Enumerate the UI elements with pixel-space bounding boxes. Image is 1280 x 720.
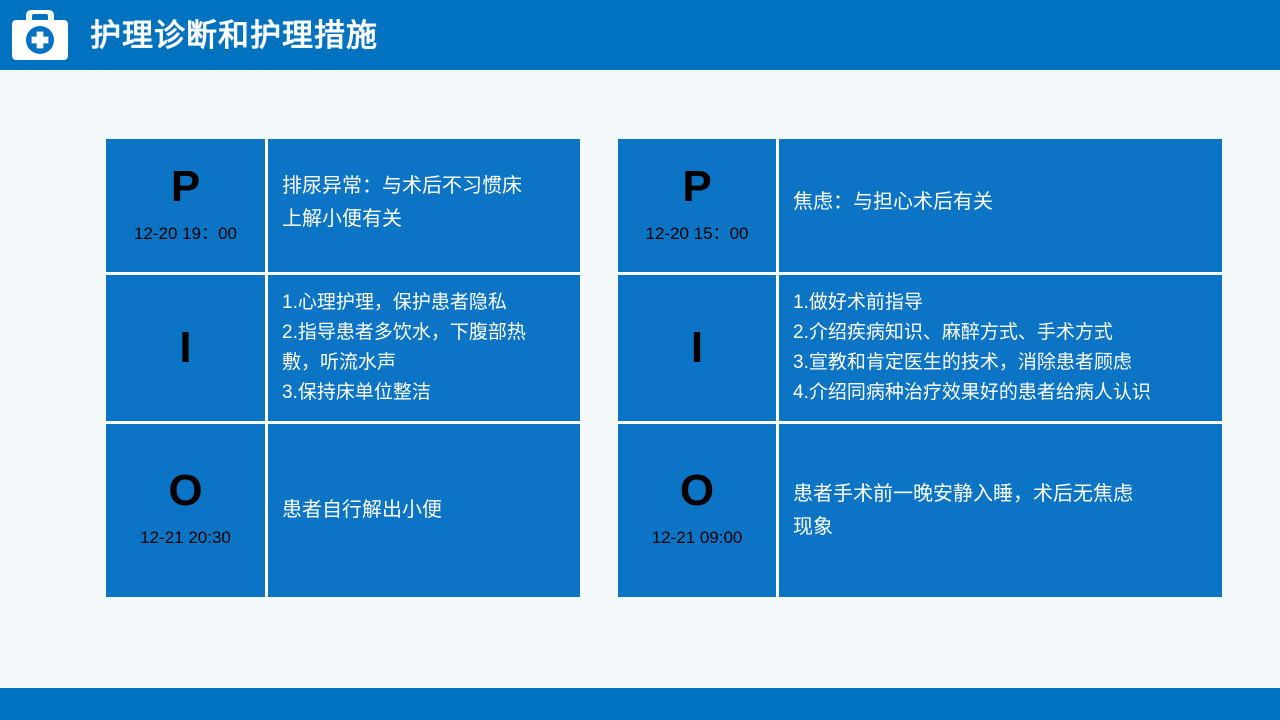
content-line: 现象 bbox=[793, 511, 1208, 543]
row-timestamp: 12-20 19：00 bbox=[134, 225, 237, 242]
content-line: 1.做好术前指导 bbox=[793, 288, 1208, 318]
content-line: 2.指导患者多饮水，下腹部热 bbox=[282, 318, 566, 348]
row-letter: O bbox=[168, 469, 202, 513]
table-row-label-p: P 12-20 19：00 bbox=[106, 139, 265, 272]
content-line: 4.介绍同病种治疗效果好的患者给病人认识 bbox=[793, 378, 1208, 408]
table-row-label-i: I bbox=[618, 275, 776, 421]
row-letter: O bbox=[680, 469, 714, 513]
content-line: 上解小便有关 bbox=[282, 203, 566, 235]
row-timestamp: 12-20 15：00 bbox=[645, 225, 748, 242]
content-line: 患者手术前一晚安静入睡，术后无焦虑 bbox=[793, 478, 1208, 510]
table-row-content-i: 1.心理护理，保护患者隐私 2.指导患者多饮水，下腹部热 敷，听流水声 3.保持… bbox=[268, 275, 580, 421]
nursing-record-table-left: P 12-20 19：00 排尿异常：与术后不习惯床 上解小便有关 I 1.心理… bbox=[106, 139, 580, 591]
table-row-label-p: P 12-20 15：00 bbox=[618, 139, 776, 272]
table-row-label-o: O 12-21 09:00 bbox=[618, 424, 776, 597]
content-line: 3.宣教和肯定医生的技术，消除患者顾虑 bbox=[793, 348, 1208, 378]
table-row-label-i: I bbox=[106, 275, 265, 421]
page-title: 护理诊断和护理措施 bbox=[90, 20, 378, 51]
row-letter: I bbox=[691, 326, 703, 370]
table-row-content-p: 焦虑：与担心术后有关 bbox=[779, 139, 1222, 272]
content-line: 3.保持床单位整洁 bbox=[282, 378, 566, 408]
content-line: 1.心理护理，保护患者隐私 bbox=[282, 288, 566, 318]
slide-header: 护理诊断和护理措施 bbox=[0, 0, 1280, 70]
row-timestamp: 12-21 09:00 bbox=[652, 529, 743, 546]
content-line: 焦虑：与担心术后有关 bbox=[793, 186, 1208, 218]
nursing-record-table-right: P 12-20 15：00 焦虑：与担心术后有关 I 1.做好术前指导 2.介绍… bbox=[618, 139, 1222, 591]
content-line: 2.介绍疾病知识、麻醉方式、手术方式 bbox=[793, 318, 1208, 348]
table-row-content-o: 患者手术前一晚安静入睡，术后无焦虑 现象 bbox=[779, 424, 1222, 597]
row-letter: I bbox=[179, 326, 191, 370]
table-row-content-p: 排尿异常：与术后不习惯床 上解小便有关 bbox=[268, 139, 580, 272]
row-timestamp: 12-21 20:30 bbox=[140, 529, 231, 546]
row-letter: P bbox=[682, 165, 711, 209]
slide-footer-bar bbox=[0, 688, 1280, 720]
content-line: 排尿异常：与术后不习惯床 bbox=[282, 170, 566, 202]
row-letter: P bbox=[171, 165, 200, 209]
table-row-content-o: 患者自行解出小便 bbox=[268, 424, 580, 597]
slide-root: 护理诊断和护理措施 P 12-20 19：00 排尿异常：与术后不习惯床 上解小… bbox=[0, 0, 1280, 720]
content-line: 敷，听流水声 bbox=[282, 348, 566, 378]
content-line: 患者自行解出小便 bbox=[282, 494, 566, 526]
table-row-content-i: 1.做好术前指导 2.介绍疾病知识、麻醉方式、手术方式 3.宣教和肯定医生的技术… bbox=[779, 275, 1222, 421]
table-row-label-o: O 12-21 20:30 bbox=[106, 424, 265, 597]
medical-briefcase-icon bbox=[8, 3, 72, 67]
